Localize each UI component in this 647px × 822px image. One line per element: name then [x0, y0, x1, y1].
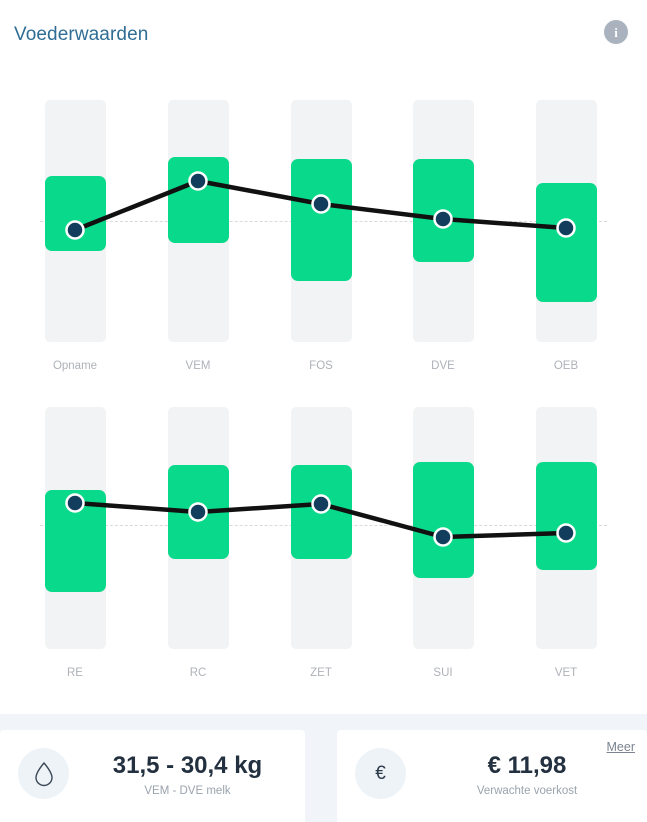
axis-label-oeb: OEB: [511, 360, 621, 372]
chart-top-series: [0, 92, 647, 350]
more-link[interactable]: Meer: [607, 740, 635, 754]
axis-label-dve: DVE: [388, 360, 498, 372]
axis-label-vem: VEM: [143, 360, 253, 372]
stat-value-milk: 31,5 - 30,4 kg: [80, 752, 295, 780]
axis-label-zet: ZET: [266, 667, 376, 679]
chart-top-axis-labels: Opname VEM FOS DVE OEB: [0, 360, 647, 380]
axis-label-fos: FOS: [266, 360, 376, 372]
summary-footer: 31,5 - 30,4 kg VEM - DVE melk € € 11,98 …: [0, 714, 647, 822]
stat-text-cost: € 11,98 Verwachte voerkost: [417, 752, 637, 797]
chart-bottom-plot: [0, 399, 647, 657]
axis-label-rc: RC: [143, 667, 253, 679]
value-dots-bottom: [67, 495, 575, 546]
card-header: Voederwaarden i: [0, 0, 647, 74]
voederwaarden-card: Voederwaarden i: [0, 0, 647, 822]
info-icon[interactable]: i: [604, 20, 628, 44]
stat-card-cost[interactable]: € € 11,98 Verwachte voerkost Meer: [337, 730, 647, 822]
stat-subtitle-cost: Verwachte voerkost: [417, 785, 637, 797]
axis-label-re: RE: [20, 667, 130, 679]
stat-subtitle-milk: VEM - DVE melk: [80, 785, 295, 797]
stat-value-cost: € 11,98: [417, 752, 637, 780]
chart-bottom-series: [0, 399, 647, 657]
axis-label-vet: VET: [511, 667, 621, 679]
stat-card-milk[interactable]: 31,5 - 30,4 kg VEM - DVE melk: [0, 730, 305, 822]
page-title: Voederwaarden: [14, 24, 148, 46]
chart-top: Opname VEM FOS DVE OEB: [0, 92, 647, 392]
stat-text-milk: 31,5 - 30,4 kg VEM - DVE melk: [80, 752, 295, 797]
chart-bottom-axis-labels: RE RC ZET SUI VET: [0, 667, 647, 687]
value-dots-top: [67, 173, 575, 239]
axis-label-opname: Opname: [20, 360, 130, 372]
chart-bottom: RE RC ZET SUI VET: [0, 399, 647, 699]
axis-label-sui: SUI: [388, 667, 498, 679]
euro-glyph: €: [375, 763, 386, 785]
water-drop-icon: [18, 748, 69, 799]
chart-top-plot: [0, 92, 647, 350]
euro-icon: €: [355, 748, 406, 799]
